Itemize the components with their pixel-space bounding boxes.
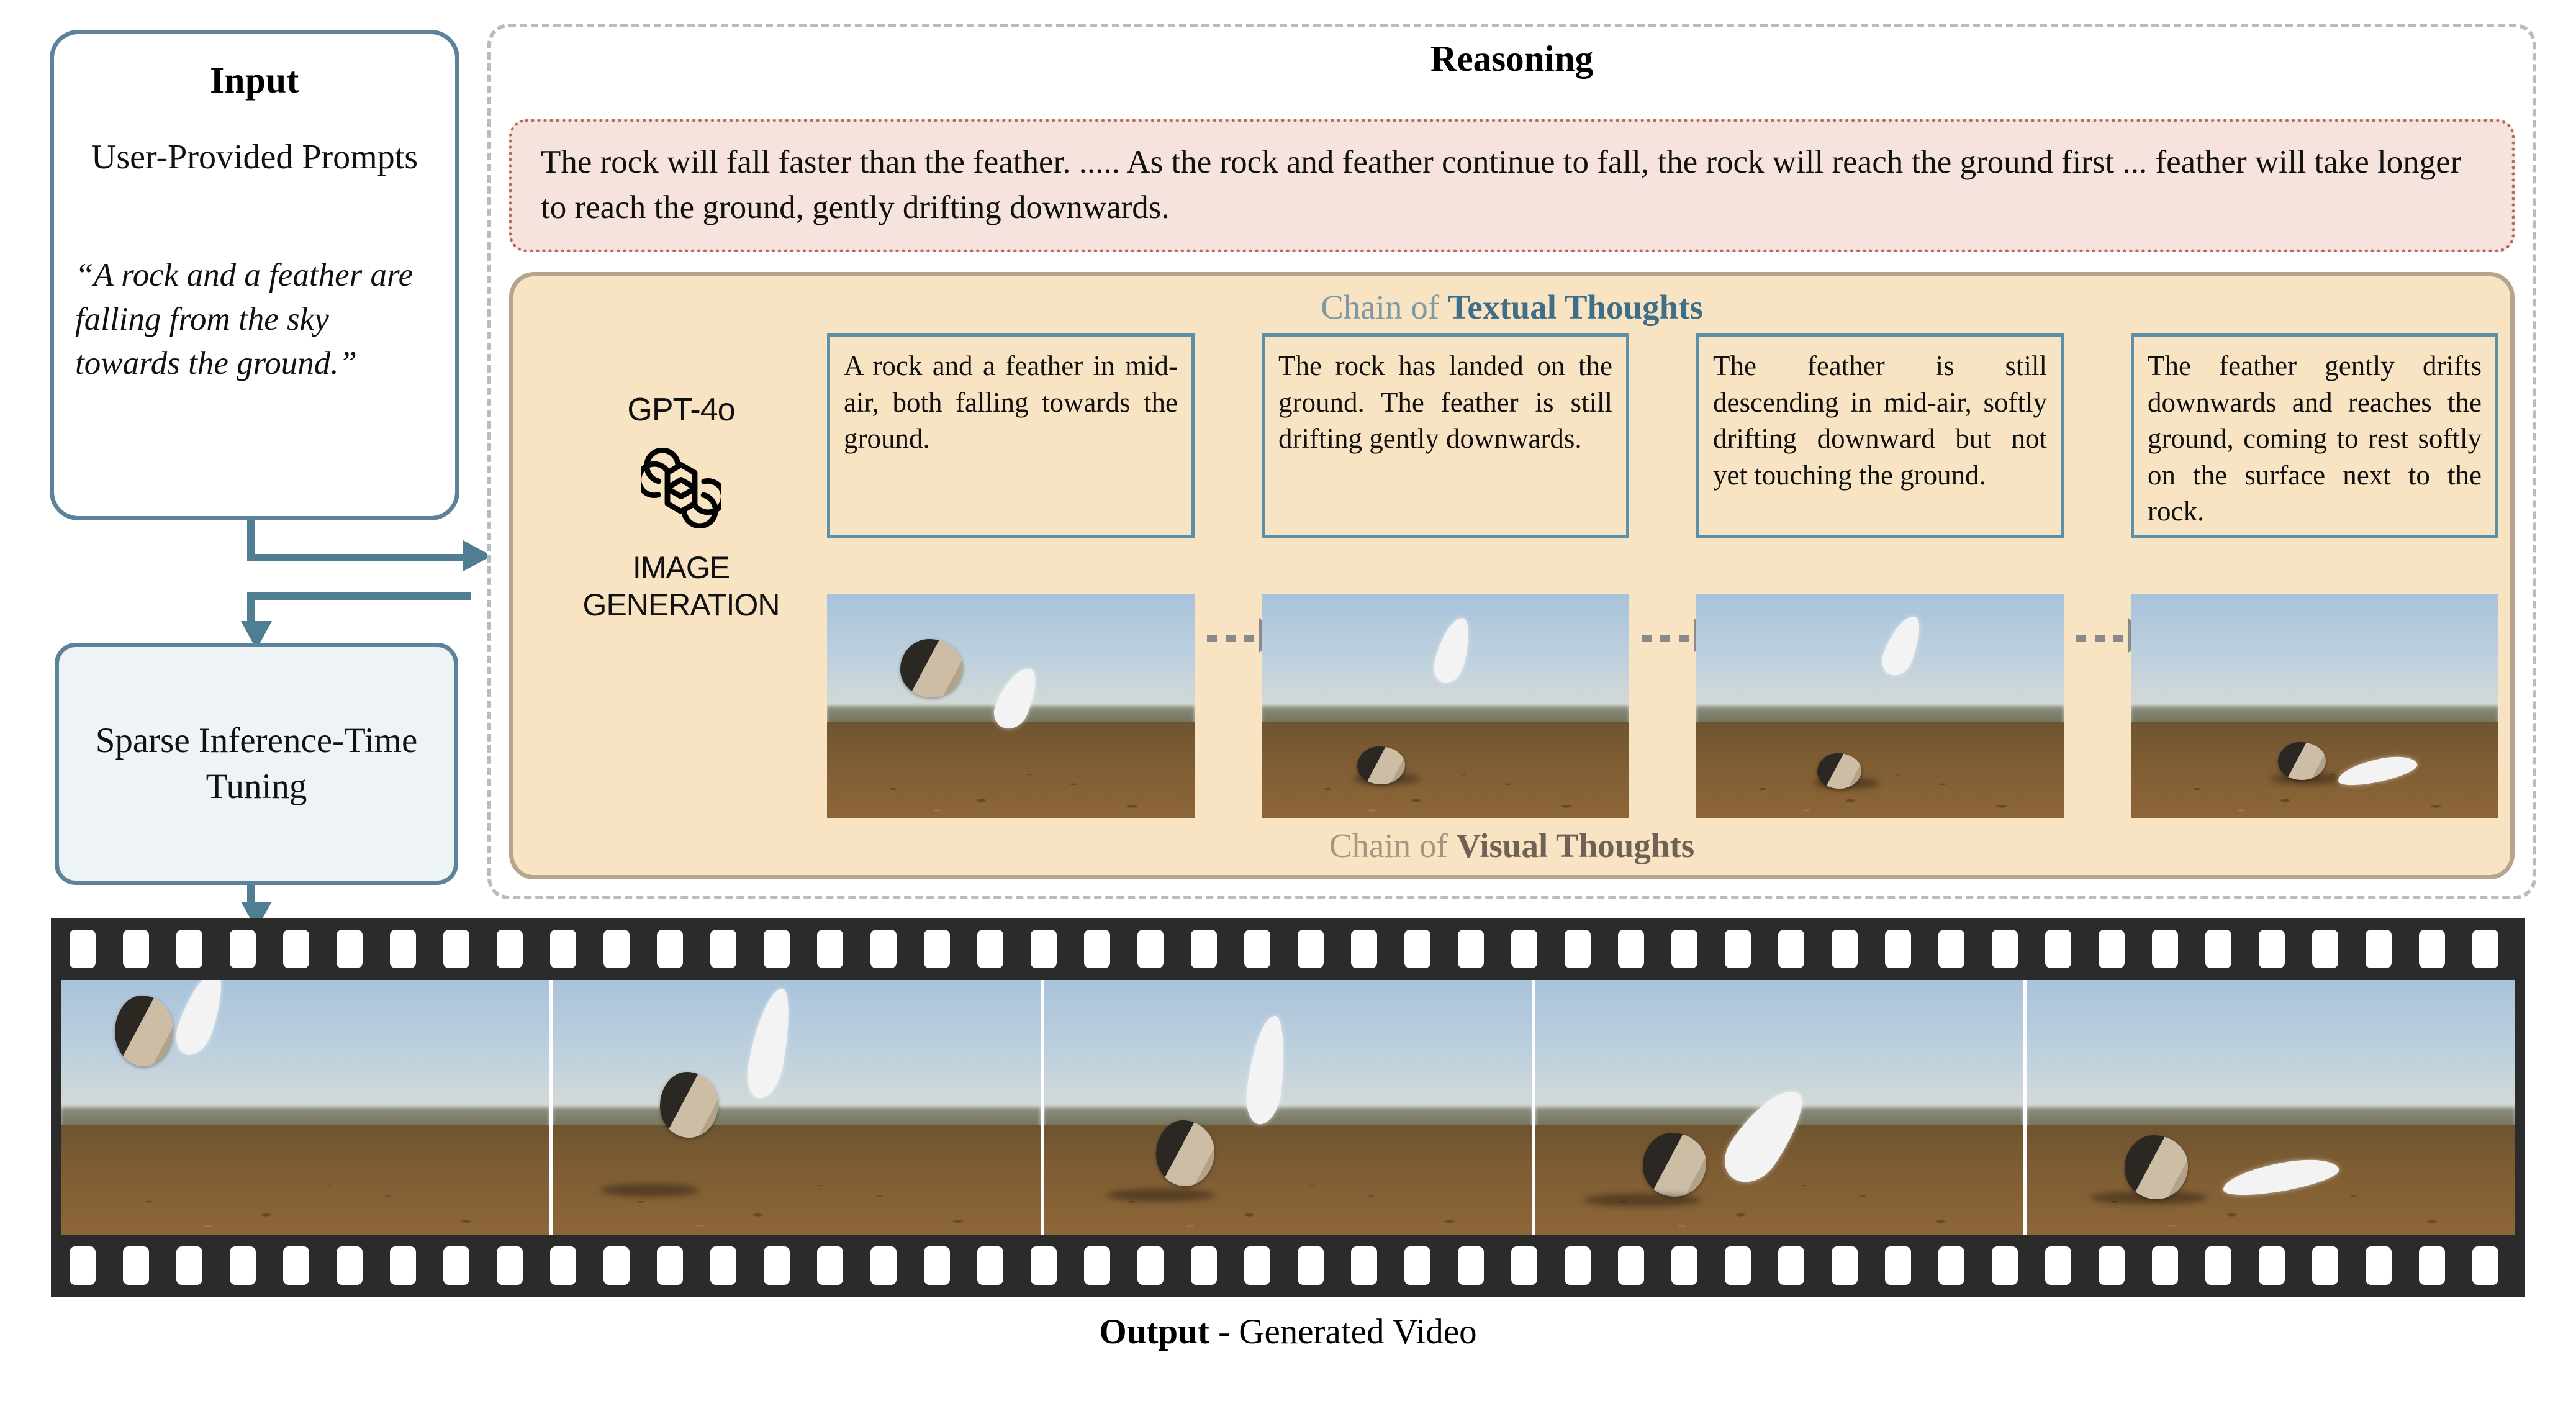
thought-step-3: The feather is still descending in mid-a… [1696,333,2064,849]
perforation [1565,930,1591,968]
perforation [870,1246,897,1285]
model-task-line1: IMAGE [551,549,811,586]
perforation [283,930,309,968]
openai-logo-icon [641,448,721,528]
perforation [2366,1246,2392,1285]
thought-image-4 [2131,594,2498,818]
thought-text-box-1: A rock and a feather in mid-air, both fa… [827,333,1195,538]
perforation [2472,1246,2498,1285]
perforation [817,930,843,968]
perforation [764,1246,790,1285]
perforation [1351,1246,1377,1285]
input-title: Input [210,59,299,102]
perforation [390,1246,416,1285]
perforation [2205,1246,2231,1285]
perforation [1832,930,1858,968]
output-caption-rest: - Generated Video [1209,1312,1477,1351]
perforation [1938,1246,1964,1285]
perforation [2366,930,2392,968]
perforation [2205,930,2231,968]
thought-text-4: The feather gently drifts downwards and … [2148,348,2482,530]
perforation [70,930,96,968]
perforation [1885,930,1911,968]
perforation [1137,1246,1164,1285]
input-prompt-text: “A rock and a feather are falling from t… [75,253,434,386]
perforation [1031,1246,1057,1285]
perforation [924,930,950,968]
thought-text-1: A rock and a feather in mid-air, both fa… [844,348,1178,457]
model-task-line2: GENERATION [551,586,811,624]
thought-image-1 [827,594,1195,818]
textual-thoughts-header: Chain of Textual Thoughts [513,288,2510,327]
film-frames [61,980,2515,1235]
perforation [123,930,149,968]
perforation [1244,1246,1270,1285]
perforation [1404,1246,1430,1285]
perforation [1992,1246,2018,1285]
perforation [870,930,897,968]
perforation [390,930,416,968]
perforation [2259,1246,2285,1285]
perforation [2152,1246,2178,1285]
film-frame-5 [2027,980,2515,1235]
output-caption-bold: Output [1099,1312,1209,1351]
perforation [1778,930,1804,968]
perforation [230,1246,256,1285]
sparse-tuning-box: Sparse Inference-Time Tuning [55,643,458,885]
perforation [710,930,736,968]
perforation [1298,1246,1324,1285]
perforation [924,1246,950,1285]
perforation [764,930,790,968]
perforation [1404,930,1430,968]
perforation [657,1246,683,1285]
perforation [1938,930,1964,968]
perforation [497,930,523,968]
perforation [2419,930,2445,968]
thought-step-4: The feather gently drifts downwards and … [2131,333,2498,849]
perforation [1885,1246,1911,1285]
perforation [1565,1246,1591,1285]
perforation [2099,1246,2125,1285]
thought-image-2 [1262,594,1629,818]
perforation [337,1246,363,1285]
film-frame-1 [61,980,553,1235]
input-box: Input User-Provided Prompts “A rock and … [50,30,459,520]
perforation [283,1246,309,1285]
perforation [603,1246,630,1285]
perforation [1244,930,1270,968]
thought-text-box-4: The feather gently drifts downwards and … [2131,333,2498,538]
reasoning-summary-box: The rock will fall faster than the feath… [509,119,2515,252]
connector-return-line [247,592,471,600]
perforation [550,1246,576,1285]
perforation [2099,930,2125,968]
perforation [443,1246,469,1285]
perforation [337,930,363,968]
perforation [1084,930,1110,968]
film-frame-4 [1535,980,2027,1235]
perforation [1778,1246,1804,1285]
perforation [230,930,256,968]
perforation [603,930,630,968]
thought-step-2: The rock has landed on the ground. The f… [1262,333,1629,849]
thought-image-3 [1696,594,2064,818]
perforation [1992,930,2018,968]
perforation [1458,1246,1484,1285]
perforation [1671,930,1697,968]
perforation [1298,930,1324,968]
perforation [1832,1246,1858,1285]
film-frame-3 [1044,980,1535,1235]
figure-root: Input User-Provided Prompts “A rock and … [0,0,2576,1406]
output-film-strip [51,918,2525,1297]
textual-header-bold: Textual Thoughts [1448,288,1703,326]
perforation [176,930,202,968]
perforation [1351,930,1377,968]
reasoning-summary-text: The rock will fall faster than the feath… [541,140,2485,230]
perforation [2152,930,2178,968]
connector-input-down [247,520,255,558]
perforation [2419,1246,2445,1285]
perforation [1618,1246,1644,1285]
perforation [550,930,576,968]
perforation [70,1246,96,1285]
thought-text-2: The rock has landed on the ground. The f… [1278,348,1612,457]
perforation [710,1246,736,1285]
perforation [1191,1246,1217,1285]
perforation [2045,930,2071,968]
perforation [1031,930,1057,968]
thought-text-box-2: The rock has landed on the ground. The f… [1262,333,1629,538]
perforation [443,930,469,968]
perforation [497,1246,523,1285]
thought-steps: A rock and a feather in mid-air, both fa… [827,333,2497,849]
model-name: GPT-4o [551,391,811,429]
film-perforations-top [51,927,2525,971]
perforation [2259,930,2285,968]
model-column: GPT-4o IMAGE GENERATION [551,391,811,624]
perforation [1511,1246,1537,1285]
thought-step-1: A rock and a feather in mid-air, both fa… [827,333,1195,849]
perforation [1725,1246,1751,1285]
perforation [123,1246,149,1285]
perforation [1191,930,1217,968]
perforation [176,1246,202,1285]
perforation [1084,1246,1110,1285]
perforation [977,930,1003,968]
input-subtitle: User-Provided Prompts [91,135,418,180]
perforation [977,1246,1003,1285]
perforation [657,930,683,968]
film-frame-2 [553,980,1044,1235]
thought-text-box-3: The feather is still descending in mid-a… [1696,333,2064,538]
reasoning-title: Reasoning [487,37,2536,80]
perforation [1511,930,1537,968]
film-perforations-bottom [51,1243,2525,1288]
sparse-tuning-label: Sparse Inference-Time Tuning [59,718,454,810]
perforation [1725,930,1751,968]
perforation [1618,930,1644,968]
connector-to-reasoning [247,554,471,561]
textual-header-light: Chain of [1321,288,1448,326]
perforation [2472,930,2498,968]
perforation [1671,1246,1697,1285]
chain-of-thought-panel: Chain of Textual Thoughts Chain of Visua… [509,272,2515,879]
perforation [1137,930,1164,968]
perforation [2312,930,2338,968]
perforation [1458,930,1484,968]
perforation [2312,1246,2338,1285]
perforation [817,1246,843,1285]
perforation [2045,1246,2071,1285]
output-caption: Output - Generated Video [0,1312,2576,1352]
thought-text-3: The feather is still descending in mid-a… [1713,348,2047,493]
